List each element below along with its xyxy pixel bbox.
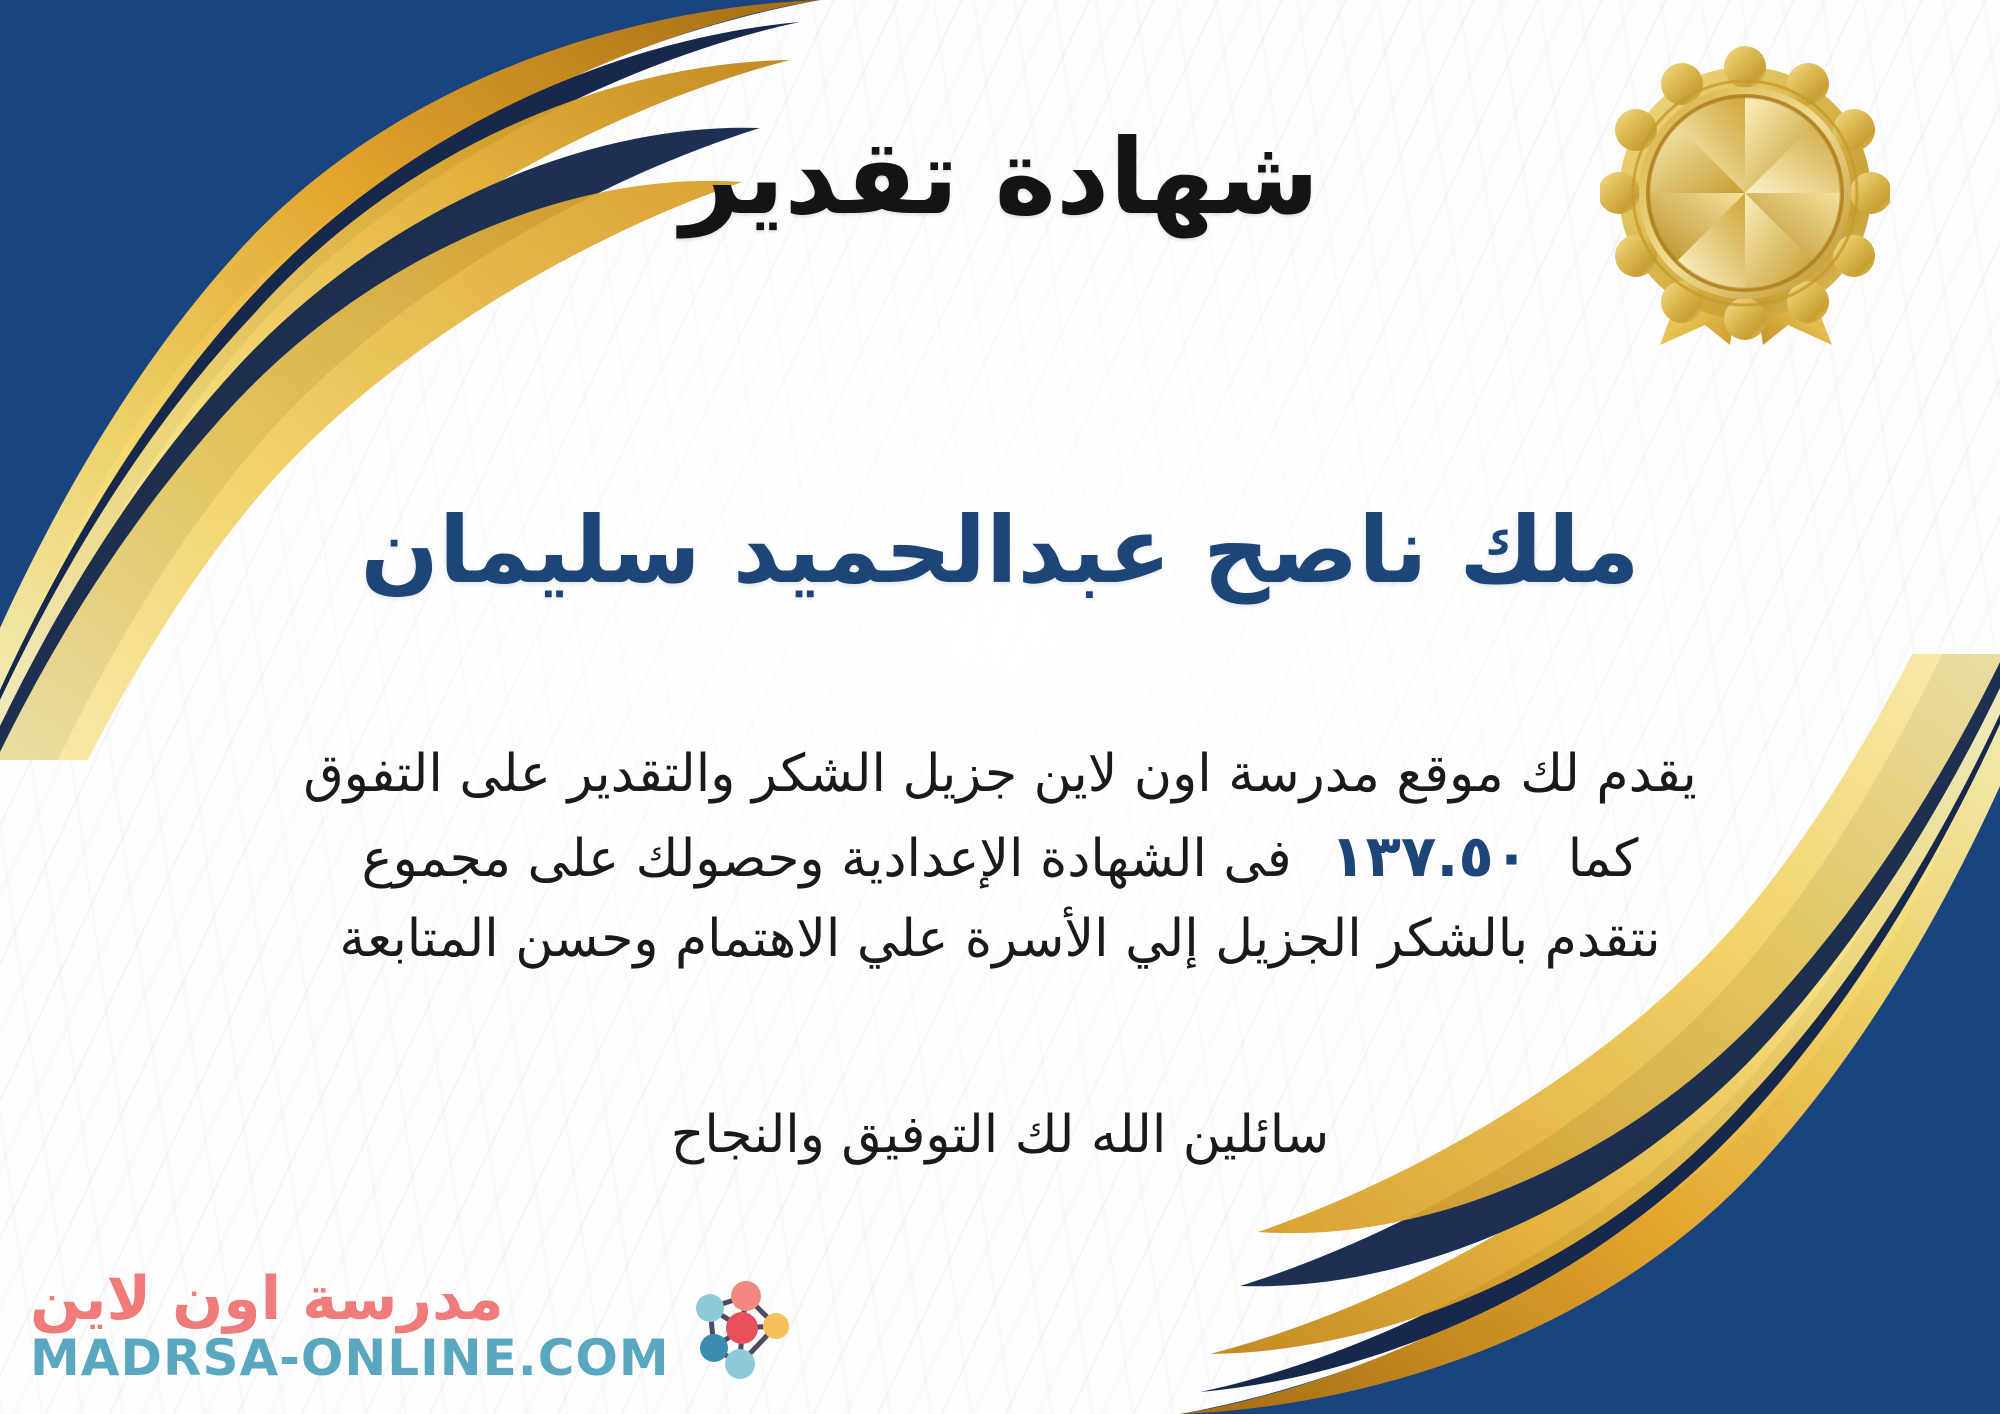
- certificate-body: يقدم لك موقع مدرسة اون لاين جزيل الشكر و…: [90, 735, 1910, 978]
- certificate-title: شهادة تقدير: [0, 120, 2000, 234]
- closing-line: سائلين الله لك التوفيق والنجاح: [0, 1105, 2000, 1165]
- site-logo[interactable]: مدرسة اون لاين MADRSA-ONLINE.COM: [30, 1269, 794, 1386]
- body-line-3: نتقدم بالشكر الجزيل إلي الأسرة علي الاهت…: [90, 900, 1910, 978]
- certificate-canvas: شهادة تقدير ملك ناصح عبدالحميد سليمان يق…: [0, 0, 2000, 1414]
- logo-arabic-name: مدرسة اون لاين: [30, 1269, 504, 1329]
- body-line-2: كما ١٣٧.٥٠ فى الشهادة الإعدادية وحصولك ع…: [90, 813, 1910, 900]
- body-line-2-after-score: كما: [1568, 829, 1639, 889]
- body-line-1: يقدم لك موقع مدرسة اون لاين جزيل الشكر و…: [90, 735, 1910, 813]
- body-line-2-before-score: فى الشهادة الإعدادية وحصولك على مجموع: [362, 829, 1292, 889]
- score-value: ١٣٧.٥٠: [1308, 813, 1551, 900]
- certificate-content: شهادة تقدير ملك ناصح عبدالحميد سليمان يق…: [0, 0, 2000, 1414]
- recipient-name: ملك ناصح عبدالحميد سليمان: [0, 498, 2000, 604]
- logo-website-url: MADRSA-ONLINE.COM: [30, 1331, 670, 1386]
- logo-text-group: مدرسة اون لاين MADRSA-ONLINE.COM: [30, 1269, 670, 1386]
- network-graph-icon: [684, 1270, 794, 1385]
